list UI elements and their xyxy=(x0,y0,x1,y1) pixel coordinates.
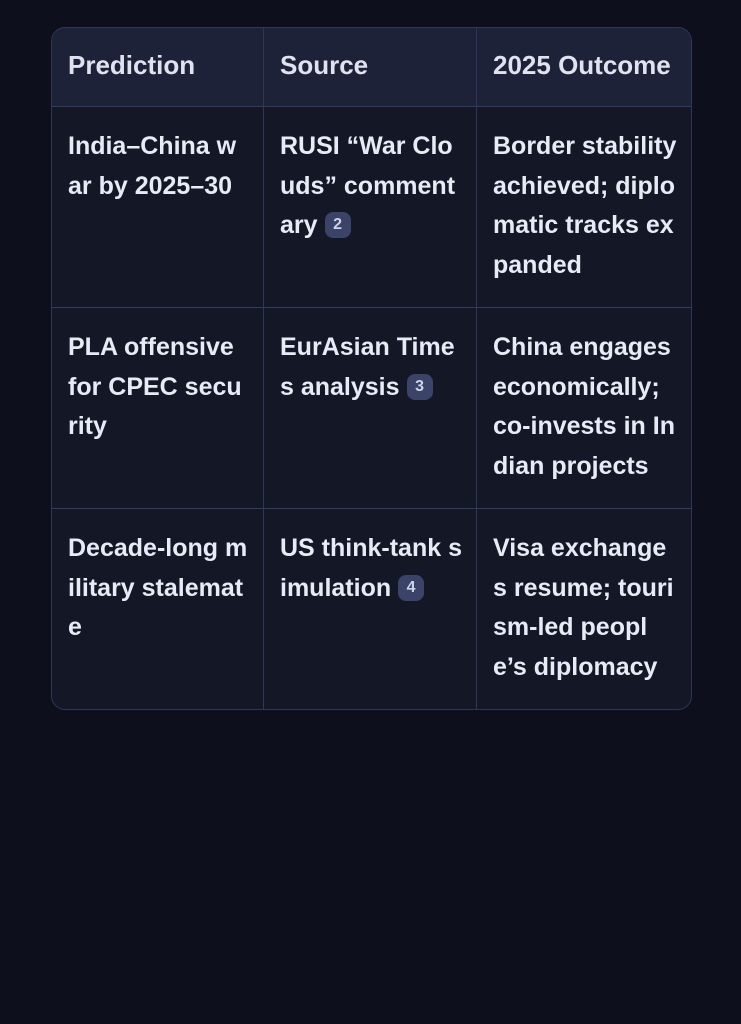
cell-prediction: Decade-long military stalemate xyxy=(52,509,264,709)
table-row: PLA offensive for CPEC security EurAsian… xyxy=(52,308,691,509)
column-header-outcome: 2025 Outcome xyxy=(477,28,691,107)
cell-prediction: PLA offensive for CPEC security xyxy=(52,308,264,509)
column-header-prediction: Prediction xyxy=(52,28,264,107)
cell-outcome: China engages economically; co-invests i… xyxy=(477,308,691,509)
cell-prediction: India–China war by 2025–30 xyxy=(52,107,264,308)
prediction-outcome-table: Prediction Source 2025 Outcome India–Chi… xyxy=(51,27,692,710)
source-text: US think-tank simulation xyxy=(280,534,462,602)
citation-badge[interactable]: 4 xyxy=(398,575,424,601)
cell-source: EurAsian Times analysis3 xyxy=(264,308,477,509)
table-body: India–China war by 2025–30 RUSI “War Clo… xyxy=(52,107,691,709)
cell-outcome: Border stability achieved; diplomatic tr… xyxy=(477,107,691,308)
cell-outcome: Visa exchanges resume; tourism-led peopl… xyxy=(477,509,691,709)
cell-source: RUSI “War Clouds” commentary2 xyxy=(264,107,477,308)
source-text: RUSI “War Clouds” commentary xyxy=(280,132,455,239)
table-row: Decade-long military stalemate US think-… xyxy=(52,509,691,709)
cell-source: US think-tank simulation4 xyxy=(264,509,477,709)
prediction-outcome-table-container: Prediction Source 2025 Outcome India–Chi… xyxy=(51,27,690,710)
table-header: Prediction Source 2025 Outcome xyxy=(52,28,691,107)
table-row: India–China war by 2025–30 RUSI “War Clo… xyxy=(52,107,691,308)
citation-badge[interactable]: 2 xyxy=(325,212,351,238)
citation-badge[interactable]: 3 xyxy=(407,374,433,400)
table-header-row: Prediction Source 2025 Outcome xyxy=(52,28,691,107)
column-header-source: Source xyxy=(264,28,477,107)
